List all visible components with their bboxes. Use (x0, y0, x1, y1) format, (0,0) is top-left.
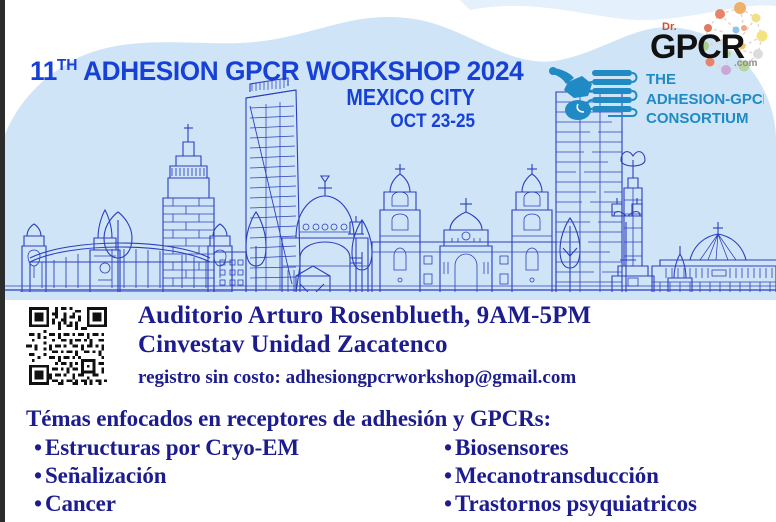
qr-code[interactable] (26, 300, 110, 392)
bullet-glyph: • (444, 435, 452, 460)
topics-columns: •Estructuras por Cryo-EM •Señalización •… (26, 434, 776, 518)
topic-item: •Señalización (34, 462, 299, 490)
tree-cypress-1 (246, 212, 266, 292)
topic-label: Cancer (45, 491, 116, 516)
headline-rest: ADHESION GPCR WORKSHOP 2024 (77, 56, 523, 86)
bullet-glyph: • (444, 491, 452, 516)
conference-poster: 11TH ADHESION GPCR WORKSHOP 2024 MEXICO … (0, 0, 776, 522)
bullet-glyph: • (34, 491, 42, 516)
topics-left-column: •Estructuras por Cryo-EM •Señalización •… (34, 434, 299, 518)
bullet-glyph: • (444, 463, 452, 488)
pavilion-kiosk (652, 222, 776, 292)
topics-section: Témas enfocados en receptores de adhesió… (26, 406, 776, 518)
drgpcr-name: GPCR (650, 28, 745, 66)
topic-item: •Biosensores (444, 434, 697, 462)
roof-shed (296, 266, 330, 292)
metropolitan-cathedral (372, 164, 556, 292)
topic-item: •Trastornos psyquiatricos (444, 490, 697, 518)
venue-line-2: Cinvestav Unidad Zacatenco (138, 331, 591, 360)
adhesion-gpcr-consortium-logo[interactable]: THE ADHESION-GPCR CONSORTIUM (548, 62, 764, 128)
topic-label: Estructuras por Cryo-EM (45, 435, 299, 460)
page-title: 11TH ADHESION GPCR WORKSHOP 2024 (30, 58, 523, 85)
topic-item: •Cancer (34, 490, 299, 518)
topic-label: Mecanotransducción (455, 463, 659, 488)
venue-info: Auditorio Arturo Rosenblueth, 9AM-5PM Ci… (138, 302, 591, 389)
event-location-dates: MEXICO CITY OCT 23-25 (30, 86, 475, 132)
topic-label: Señalización (45, 463, 166, 488)
tree-cypress-3 (560, 218, 580, 292)
event-dates: OCT 23-25 (75, 112, 476, 132)
consortium-line-3: CONSORTIUM (646, 110, 749, 127)
receptor-icon (549, 67, 637, 120)
topics-right-column: •Biosensores •Mecanotransducción •Trasto… (444, 434, 697, 518)
consortium-line-1: THE (646, 71, 676, 88)
topic-item: •Estructuras por Cryo-EM (34, 434, 299, 462)
topic-item: •Mecanotransducción (444, 462, 697, 490)
topic-label: Biosensores (455, 435, 569, 460)
left-edge-strip (0, 0, 5, 522)
headline-ordinal: TH (57, 57, 77, 74)
topics-heading: Témas enfocados en receptores de adhesió… (26, 406, 776, 432)
registration-line: registro sin costo: adhesiongpcrworkshop… (138, 368, 591, 389)
venue-line-1: Auditorio Arturo Rosenblueth, 9AM-5PM (138, 302, 591, 331)
bullet-glyph: • (34, 435, 42, 460)
headline-number: 11 (30, 56, 57, 86)
consortium-line-2: ADHESION-GPCR (646, 91, 764, 108)
bullet-glyph: • (34, 463, 42, 488)
event-city: MEXICO CITY (92, 86, 475, 110)
topic-label: Trastornos psyquiatricos (455, 491, 697, 516)
